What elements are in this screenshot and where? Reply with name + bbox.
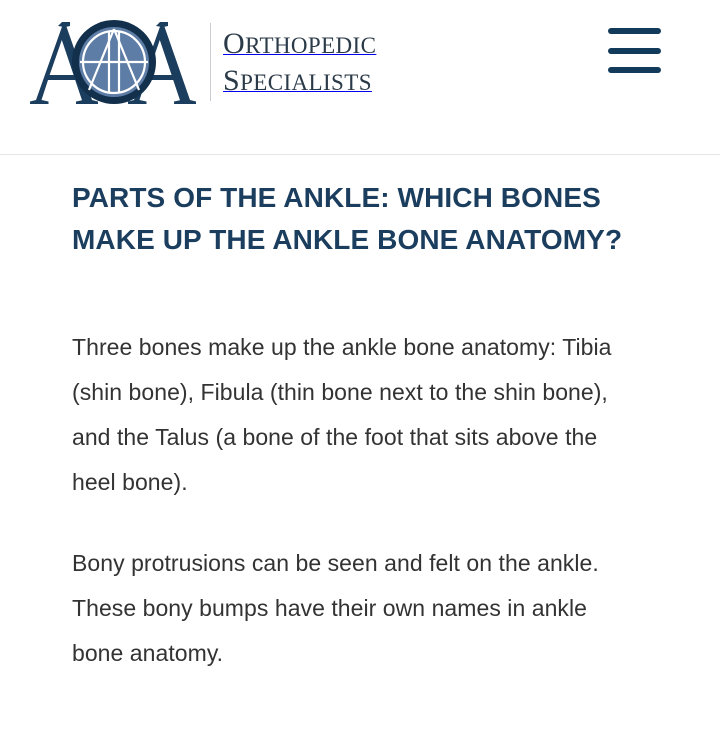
wordmark-rest-specialists: PECIALISTS bbox=[240, 70, 372, 95]
wordmark-initial-s: S bbox=[223, 64, 240, 97]
article-body: Three bones make up the ankle bone anato… bbox=[72, 261, 648, 676]
wordmark-rest-orthopedic: RTHOPEDIC bbox=[245, 33, 376, 58]
wordmark-initial-o: O bbox=[223, 27, 245, 60]
wordmark-line-orthopedic: ORTHOPEDIC bbox=[223, 29, 376, 59]
logo-divider bbox=[210, 23, 211, 101]
hamburger-menu-button[interactable] bbox=[608, 28, 663, 73]
hamburger-icon-bar-middle bbox=[608, 48, 661, 54]
article-main: Parts of the Ankle: Which Bones Make Up … bbox=[0, 155, 720, 676]
article-paragraph: Bony protrusions can be seen and felt on… bbox=[72, 541, 637, 676]
hamburger-icon-bar-top bbox=[608, 28, 661, 34]
hamburger-icon-bar-bottom bbox=[608, 67, 661, 73]
logo-link[interactable]: ORTHOPEDIC SPECIALISTS bbox=[10, 14, 376, 110]
aoa-logo-mark bbox=[10, 14, 206, 110]
page-title: Parts of the Ankle: Which Bones Make Up … bbox=[72, 155, 632, 261]
article-paragraph: Three bones make up the ankle bone anato… bbox=[72, 325, 637, 505]
wordmark-line-specialists: SPECIALISTS bbox=[223, 66, 376, 96]
site-header: ORTHOPEDIC SPECIALISTS bbox=[0, 0, 720, 155]
logo-wordmark: ORTHOPEDIC SPECIALISTS bbox=[223, 29, 376, 96]
